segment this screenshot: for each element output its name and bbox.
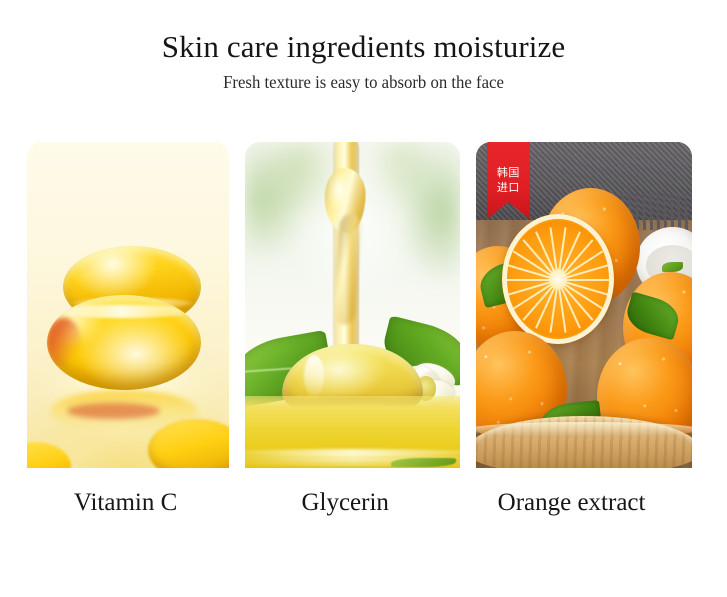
bowl-leaf bbox=[662, 262, 683, 272]
bamboo-basket bbox=[476, 416, 692, 468]
page-title: Skin care ingredients moisturize bbox=[0, 28, 727, 66]
capsule-front bbox=[47, 295, 201, 390]
ingredient-image-glycerin bbox=[245, 142, 460, 468]
capsule-reflection-red bbox=[67, 403, 160, 419]
ribbon-label-line2: 进口 bbox=[497, 180, 520, 195]
caption-vitamin-c: Vitamin C bbox=[27, 486, 224, 522]
orange-half-cut bbox=[502, 214, 614, 344]
ingredients-infographic: Skin care ingredients moisturize Fresh t… bbox=[0, 0, 727, 597]
page-subtitle: Fresh texture is easy to absorb on the f… bbox=[25, 70, 701, 94]
leaf-submerged bbox=[391, 458, 456, 467]
caption-orange-extract: Orange extract bbox=[466, 486, 677, 522]
basket-rim bbox=[476, 422, 692, 437]
ingredient-image-vitamin-c bbox=[27, 142, 229, 468]
orange-core bbox=[549, 268, 567, 289]
ingredient-image-orange-extract: 韩国 进口 bbox=[476, 142, 692, 468]
oil-pool bbox=[245, 396, 460, 468]
panel-strip: 韩国 进口 bbox=[27, 142, 677, 468]
caption-row: Vitamin C Glycerin Orange extract bbox=[27, 486, 677, 522]
ribbon-label-line1: 韩国 bbox=[497, 165, 520, 180]
caption-glycerin: Glycerin bbox=[240, 486, 450, 522]
